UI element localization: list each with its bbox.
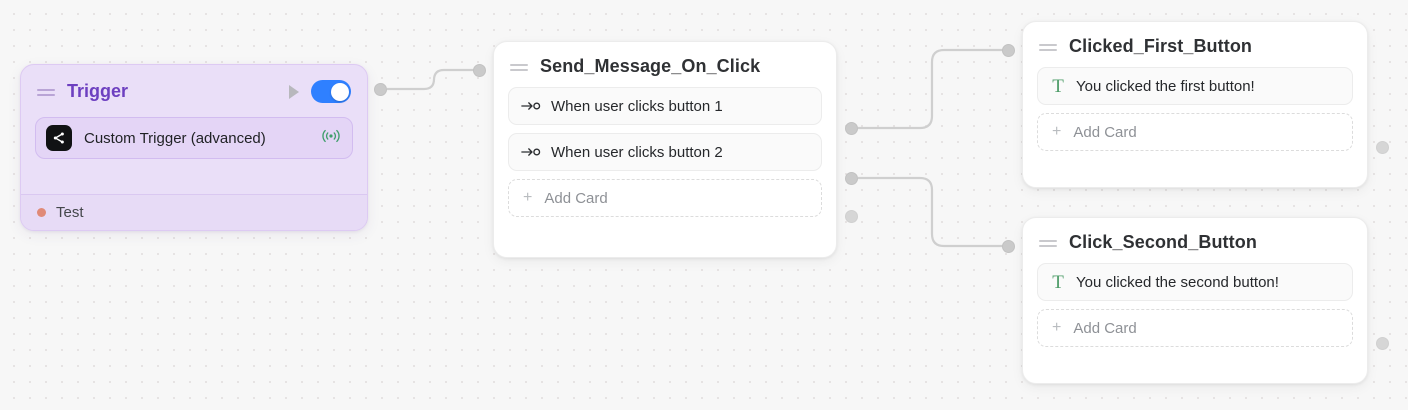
text-t-icon: T bbox=[1050, 77, 1066, 96]
card-label: You clicked the second button! bbox=[1076, 274, 1279, 291]
event-arrow-icon bbox=[521, 100, 541, 112]
broadcast-icon bbox=[320, 127, 342, 150]
add-card-button[interactable]: + Add Card bbox=[508, 179, 822, 217]
port-send-message-input[interactable] bbox=[473, 64, 486, 77]
port-send-message-output-1[interactable] bbox=[845, 122, 858, 135]
add-card-label: Add Card bbox=[1073, 320, 1136, 337]
node-clicked-first-button[interactable]: Clicked_First_Button T You clicked the f… bbox=[1022, 21, 1368, 188]
node-click-second-button[interactable]: Click_Second_Button T You clicked the se… bbox=[1022, 217, 1368, 384]
event-arrow-icon bbox=[521, 146, 541, 158]
port-click-second-output[interactable] bbox=[1376, 337, 1389, 350]
node-title: Send_Message_On_Click bbox=[540, 56, 760, 77]
trigger-footer[interactable]: Test bbox=[21, 194, 367, 230]
edge-out1-to-clicked-first bbox=[858, 50, 1003, 128]
edge-out2-to-click-second bbox=[858, 178, 1003, 246]
card-label: When user clicks button 2 bbox=[551, 144, 723, 161]
node-trigger[interactable]: Trigger Custom Trigger (advanced) bbox=[20, 64, 368, 231]
share-nodes-icon bbox=[46, 125, 72, 151]
status-dot-icon bbox=[37, 208, 46, 217]
card-first-button-message[interactable]: T You clicked the first button! bbox=[1037, 67, 1353, 105]
add-card-button[interactable]: + Add Card bbox=[1037, 113, 1353, 151]
plus-icon: + bbox=[523, 190, 532, 206]
plus-icon: + bbox=[1052, 124, 1061, 140]
click-second-body: T You clicked the second button! + Add C… bbox=[1023, 263, 1367, 359]
card-label: You clicked the first button! bbox=[1076, 78, 1255, 95]
port-send-message-output-3[interactable] bbox=[845, 210, 858, 223]
node-send-message-on-click[interactable]: Send_Message_On_Click When user clicks b… bbox=[493, 41, 837, 258]
clicked-first-body: T You clicked the first button! + Add Ca… bbox=[1023, 67, 1367, 163]
trigger-card-custom-trigger[interactable]: Custom Trigger (advanced) bbox=[35, 117, 353, 159]
port-send-message-output-2[interactable] bbox=[845, 172, 858, 185]
plus-icon: + bbox=[1052, 320, 1061, 336]
port-click-second-input[interactable] bbox=[1002, 240, 1015, 253]
node-title: Click_Second_Button bbox=[1069, 232, 1257, 253]
card-second-button-message[interactable]: T You clicked the second button! bbox=[1037, 263, 1353, 301]
drag-handle-icon[interactable] bbox=[37, 86, 55, 98]
clicked-first-header[interactable]: Clicked_First_Button bbox=[1023, 22, 1367, 67]
test-label: Test bbox=[56, 204, 84, 221]
card-label: When user clicks button 1 bbox=[551, 98, 723, 115]
click-second-header[interactable]: Click_Second_Button bbox=[1023, 218, 1367, 263]
flow-canvas[interactable]: Trigger Custom Trigger (advanced) bbox=[0, 0, 1408, 410]
add-card-button[interactable]: + Add Card bbox=[1037, 309, 1353, 347]
trigger-card-label: Custom Trigger (advanced) bbox=[84, 130, 266, 147]
send-message-body: When user clicks button 1 When user clic… bbox=[494, 87, 836, 229]
enable-toggle[interactable] bbox=[311, 80, 351, 103]
node-title: Clicked_First_Button bbox=[1069, 36, 1252, 57]
drag-handle-icon[interactable] bbox=[1039, 237, 1057, 249]
drag-handle-icon[interactable] bbox=[510, 61, 528, 73]
text-t-icon: T bbox=[1050, 273, 1066, 292]
port-clicked-first-output[interactable] bbox=[1376, 141, 1389, 154]
drag-handle-icon[interactable] bbox=[1039, 41, 1057, 53]
card-when-user-clicks-button-1[interactable]: When user clicks button 1 bbox=[508, 87, 822, 125]
port-clicked-first-input[interactable] bbox=[1002, 44, 1015, 57]
play-icon[interactable] bbox=[289, 85, 299, 99]
add-card-label: Add Card bbox=[1073, 124, 1136, 141]
port-trigger-output[interactable] bbox=[374, 83, 387, 96]
trigger-title: Trigger bbox=[67, 81, 128, 102]
add-card-label: Add Card bbox=[544, 190, 607, 207]
edge-trigger-to-send-message bbox=[387, 70, 475, 89]
send-message-header[interactable]: Send_Message_On_Click bbox=[494, 42, 836, 87]
toggle-knob bbox=[331, 83, 349, 101]
trigger-header[interactable]: Trigger bbox=[21, 65, 367, 113]
card-when-user-clicks-button-2[interactable]: When user clicks button 2 bbox=[508, 133, 822, 171]
